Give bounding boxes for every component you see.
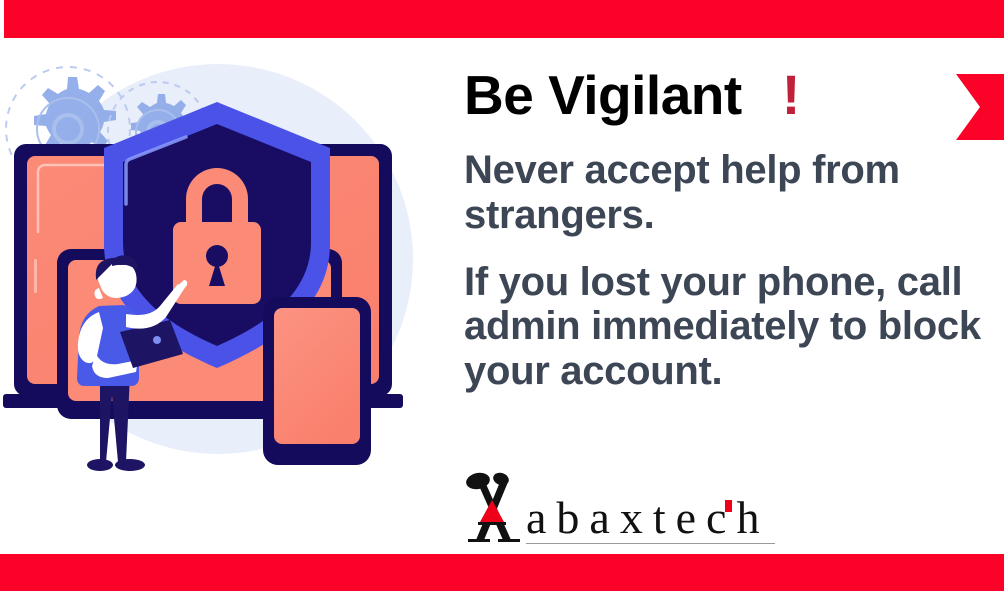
exclamation-icon: ! [782, 67, 801, 123]
device-security-illustration [0, 44, 440, 484]
poster-banner: Be Vigilant ! Never accept help from str… [0, 0, 1004, 591]
message-paragraph-1: Never accept help from strangers. [464, 148, 1004, 238]
right-arrow-flag-icon [956, 74, 1004, 140]
logo-wordmark: abaxtech [526, 495, 775, 544]
logo-wordmark-text: abaxtech [526, 492, 769, 543]
bottom-red-bar [0, 554, 1004, 591]
logo-accent-mark [725, 500, 732, 512]
phone [263, 297, 371, 465]
message-panel: Be Vigilant ! Never accept help from str… [464, 56, 1004, 556]
heading-row: Be Vigilant ! [464, 56, 1004, 134]
page-title: Be Vigilant [464, 68, 742, 123]
message-paragraph-2: If you lost your phone, call admin immed… [464, 260, 1004, 394]
brand-logo: abaxtech [464, 470, 775, 544]
logo-monogram-a-icon [464, 470, 532, 544]
top-red-bar [4, 0, 1004, 38]
